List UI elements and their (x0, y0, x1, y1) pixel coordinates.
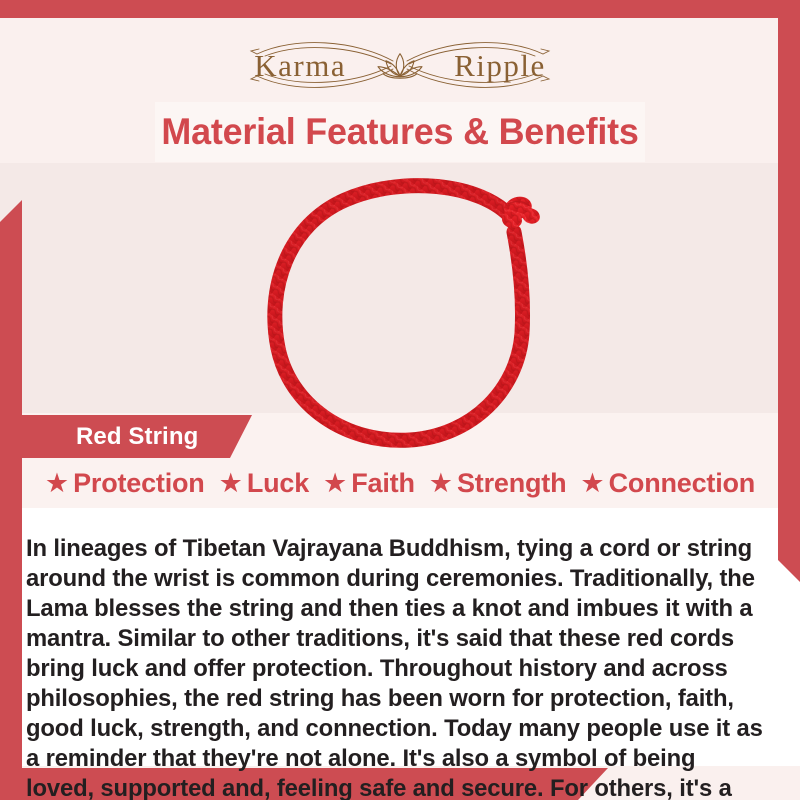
page-title-panel: Material Features & Benefits (155, 102, 645, 162)
benefit-label: Protection (73, 470, 205, 497)
decor-top-red-band (0, 0, 800, 18)
benefit-item-protection: ★ Protection (38, 470, 212, 497)
product-image-red-string-bracelet (250, 168, 570, 453)
star-icon: ★ (429, 470, 453, 497)
brand-word-ripple: Ripple (454, 50, 546, 81)
brand-logo: Karma Ripple (0, 34, 800, 96)
infographic-canvas: Karma Ripple Material Features & Benefit… (0, 0, 800, 800)
page-title: Material Features & Benefits (161, 111, 638, 153)
benefit-item-luck: ★ Luck (212, 470, 316, 497)
benefit-label: Faith (351, 470, 415, 497)
benefit-item-faith: ★ Faith (316, 470, 422, 497)
benefit-item-connection: ★ Connection (573, 470, 762, 497)
benefit-label: Luck (247, 470, 309, 497)
section-ribbon-label: Red String (22, 423, 198, 451)
benefit-label: Connection (609, 470, 756, 497)
benefit-item-strength: ★ Strength (422, 470, 574, 497)
section-ribbon: Red String (22, 415, 252, 458)
star-icon: ★ (580, 470, 604, 497)
star-icon: ★ (219, 470, 243, 497)
decor-left-red-bar (0, 200, 22, 790)
star-icon: ★ (45, 470, 69, 497)
lotus-icon (374, 48, 426, 84)
description-paragraph: In lineages of Tibetan Vajrayana Buddhis… (26, 534, 763, 800)
brand-word-karma: Karma (254, 50, 346, 81)
benefit-label: Strength (457, 470, 566, 497)
benefits-list: ★ Protection ★ Luck ★ Faith ★ Strength ★… (22, 463, 778, 503)
star-icon: ★ (323, 470, 347, 497)
